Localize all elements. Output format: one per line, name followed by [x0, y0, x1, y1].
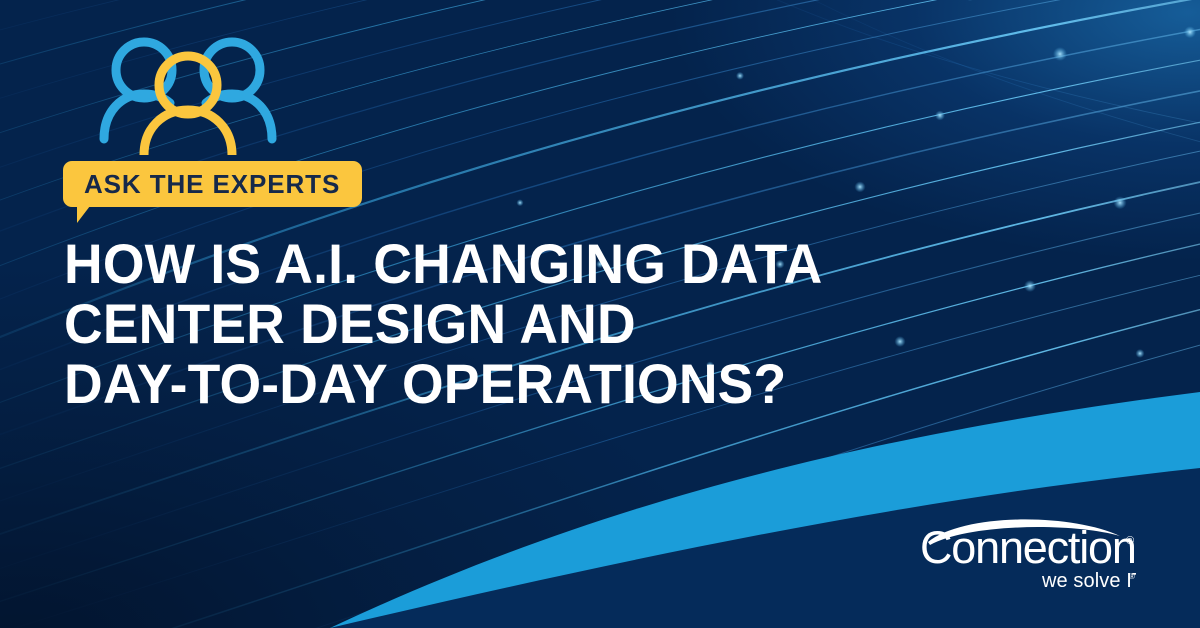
logo-tagline: we solve IT — [1041, 570, 1136, 592]
badge-label: ASK THE EXPERTS — [84, 171, 340, 197]
headline-line-2: CENTER DESIGN AND — [64, 294, 866, 354]
headline-line-1: HOW IS A.I. CHANGING DATA — [64, 234, 866, 294]
headline-line-3: DAY-TO-DAY OPERATIONS? — [64, 354, 866, 414]
logo-wordmark: Connection — [920, 522, 1136, 573]
three-people-icon — [98, 33, 278, 155]
headline: HOW IS A.I. CHANGING DATA CENTER DESIGN … — [64, 234, 904, 414]
logo-tagline-mark: ® — [1129, 572, 1135, 581]
ask-the-experts-badge: ASK THE EXPERTS — [63, 161, 362, 207]
ask-the-experts-banner: ASK THE EXPERTS HOW IS A.I. CHANGING DAT… — [0, 0, 1200, 628]
badge-tail — [77, 206, 90, 223]
connection-logo: Connection ® we solve IT ® — [920, 516, 1136, 592]
logo-registered-mark: ® — [1126, 535, 1134, 547]
